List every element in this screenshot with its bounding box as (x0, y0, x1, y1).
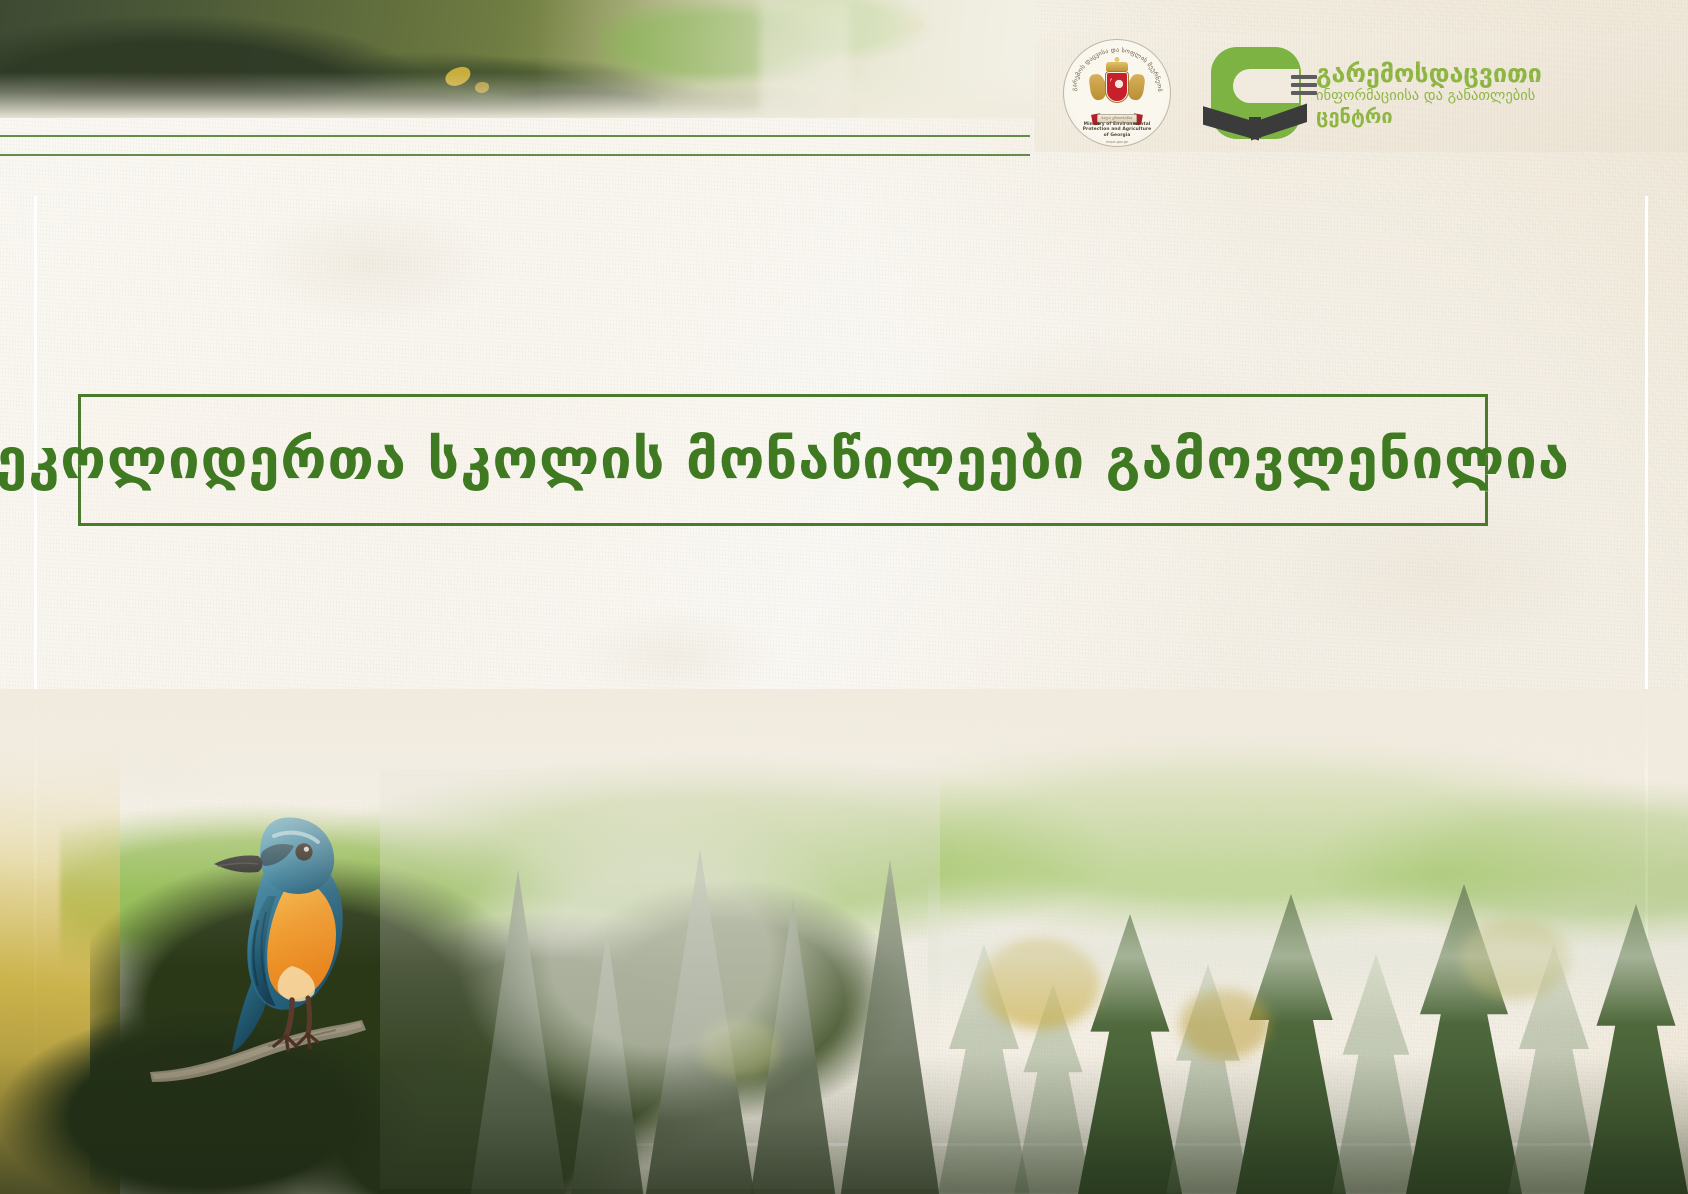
ministry-name-english: Ministry of Environmental Protection and… (1064, 122, 1170, 139)
open-book-icon (1203, 93, 1307, 141)
bottom-forest-photo (0, 689, 1688, 1194)
saint-george-shield-icon (1106, 72, 1128, 102)
lion-supporter-icon (1126, 73, 1145, 101)
top-mountain-forest-photo (0, 0, 1035, 118)
top-photo-mist-bottom (0, 72, 1035, 118)
decorative-rule-lower (0, 154, 1030, 156)
ministry-seal: საქართველოს გარემოს დაცვისა და სოფლის მე… (1063, 39, 1171, 147)
ministry-url: mepa.gov.ge (1064, 140, 1170, 144)
ministry-name-line3: of Georgia (1078, 133, 1156, 139)
georgia-coat-of-arms: ძალა ერთობაშია (1090, 70, 1144, 116)
bottom-photo-top-fade (0, 689, 1688, 1194)
logo-card: საქართველოს გარემოს დაცვისა და სოფლის მე… (1035, 33, 1688, 152)
seal-motto-text: ძალა ერთობაშია (1098, 115, 1136, 122)
decorative-rule-upper (0, 135, 1030, 137)
page-title: ეკოლიდერთა სკოლის მონაწილეები გამოვლენილ… (0, 430, 1570, 490)
lion-supporter-icon (1088, 73, 1107, 101)
poster-canvas: საქართველოს გარემოს დაცვისა და სოფლის მე… (0, 0, 1688, 1194)
title-box: ეკოლიდერთა სკოლის მონაწილეები გამოვლენილ… (78, 394, 1488, 526)
eiec-logo-mark-icon (1209, 45, 1303, 141)
crown-icon (1106, 62, 1128, 71)
